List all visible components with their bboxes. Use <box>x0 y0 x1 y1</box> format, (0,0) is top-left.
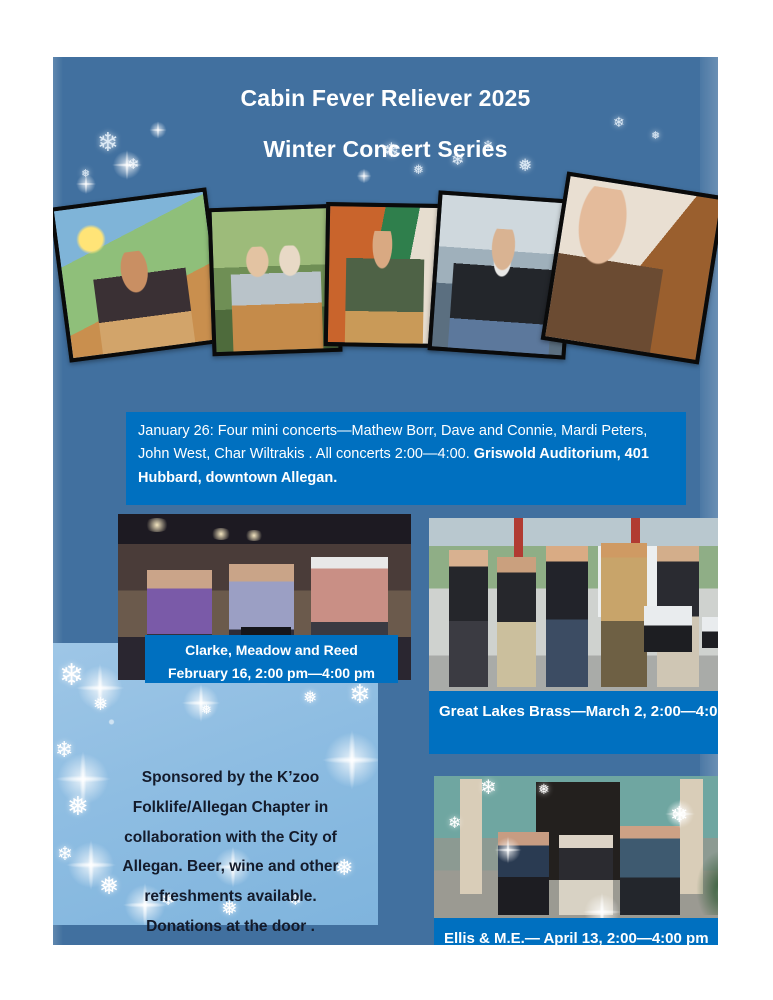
photo-subject <box>90 245 196 360</box>
photo-subject <box>345 231 425 347</box>
snare-drum <box>702 617 718 649</box>
photo-mardi-peters <box>324 202 442 348</box>
event-caption-march: Great Lakes Brass—March 2, 2:00—4:00 pm <box>429 691 718 754</box>
snowflake-icon: ❅ <box>538 782 550 796</box>
photo-subject <box>230 245 324 352</box>
sponsor-line-3: collaboration with the City of <box>53 823 408 853</box>
sponsor-line-5: refreshments available. <box>53 882 408 912</box>
musician-figure <box>546 546 588 687</box>
sparkle-star-icon <box>488 830 528 870</box>
musician-figure <box>449 550 488 687</box>
stage-light <box>244 530 264 541</box>
photo-mathew-borr <box>53 187 227 362</box>
snowflake-icon: ❄ <box>480 778 497 798</box>
poster-panel: ❄ ❄ ❅ ❄ ❅ ❄ ❄ ❅ ❄ ❅ Cabin Fever Reliever… <box>53 57 718 945</box>
photo-great-lakes-brass <box>429 518 718 694</box>
february-date-time: February 16, 2:00 pm—4:00 pm <box>145 662 398 685</box>
photo-ellis-and-me: ❄ ❅ ❄ ❅ ❄ <box>434 776 718 924</box>
sponsor-line-1: Sponsored by the K’zoo <box>53 763 408 793</box>
musician-figure <box>497 557 536 687</box>
stage-light <box>144 518 170 532</box>
page-subtitle: Winter Concert Series <box>53 136 718 163</box>
stage-light <box>210 528 232 540</box>
sparkle-star-icon <box>658 792 702 836</box>
photo-dave-and-connie <box>207 204 342 356</box>
photo-char-wiltrakis <box>541 172 718 365</box>
sponsor-text: Sponsored by the K’zoo Folklife/Allegan … <box>53 763 408 942</box>
page-title: Cabin Fever Reliever 2025 <box>53 85 718 112</box>
february-band-name: Clarke, Meadow and Reed <box>145 639 398 662</box>
snowflake-icon: ❄ <box>613 115 625 129</box>
snowflake-icon: ❄ <box>349 681 371 707</box>
event-box-january: January 26: Four mini concerts—Mathew Bo… <box>126 412 686 505</box>
photo-strip <box>53 175 718 410</box>
event-caption-april: Ellis & M.E.— April 13, 2:00—4:00 pm <box>434 918 718 945</box>
event-caption-february: Clarke, Meadow and Reed February 16, 2:0… <box>145 635 398 683</box>
snow-sparkle-overlay: ❄ ❅ ❄ ❅ ❄ <box>434 776 718 924</box>
sponsor-line-2: Folklife/Allegan Chapter in <box>53 793 408 823</box>
sousaphone-drum <box>644 606 693 652</box>
musician-figure <box>601 543 647 687</box>
sponsor-line-4: Allegan. Beer, wine and other <box>53 852 408 882</box>
snowflake-icon: ❅ <box>303 689 317 706</box>
snowflake-icon: ❄ <box>448 816 461 832</box>
sponsor-line-6: Donations at the door . <box>53 912 408 942</box>
